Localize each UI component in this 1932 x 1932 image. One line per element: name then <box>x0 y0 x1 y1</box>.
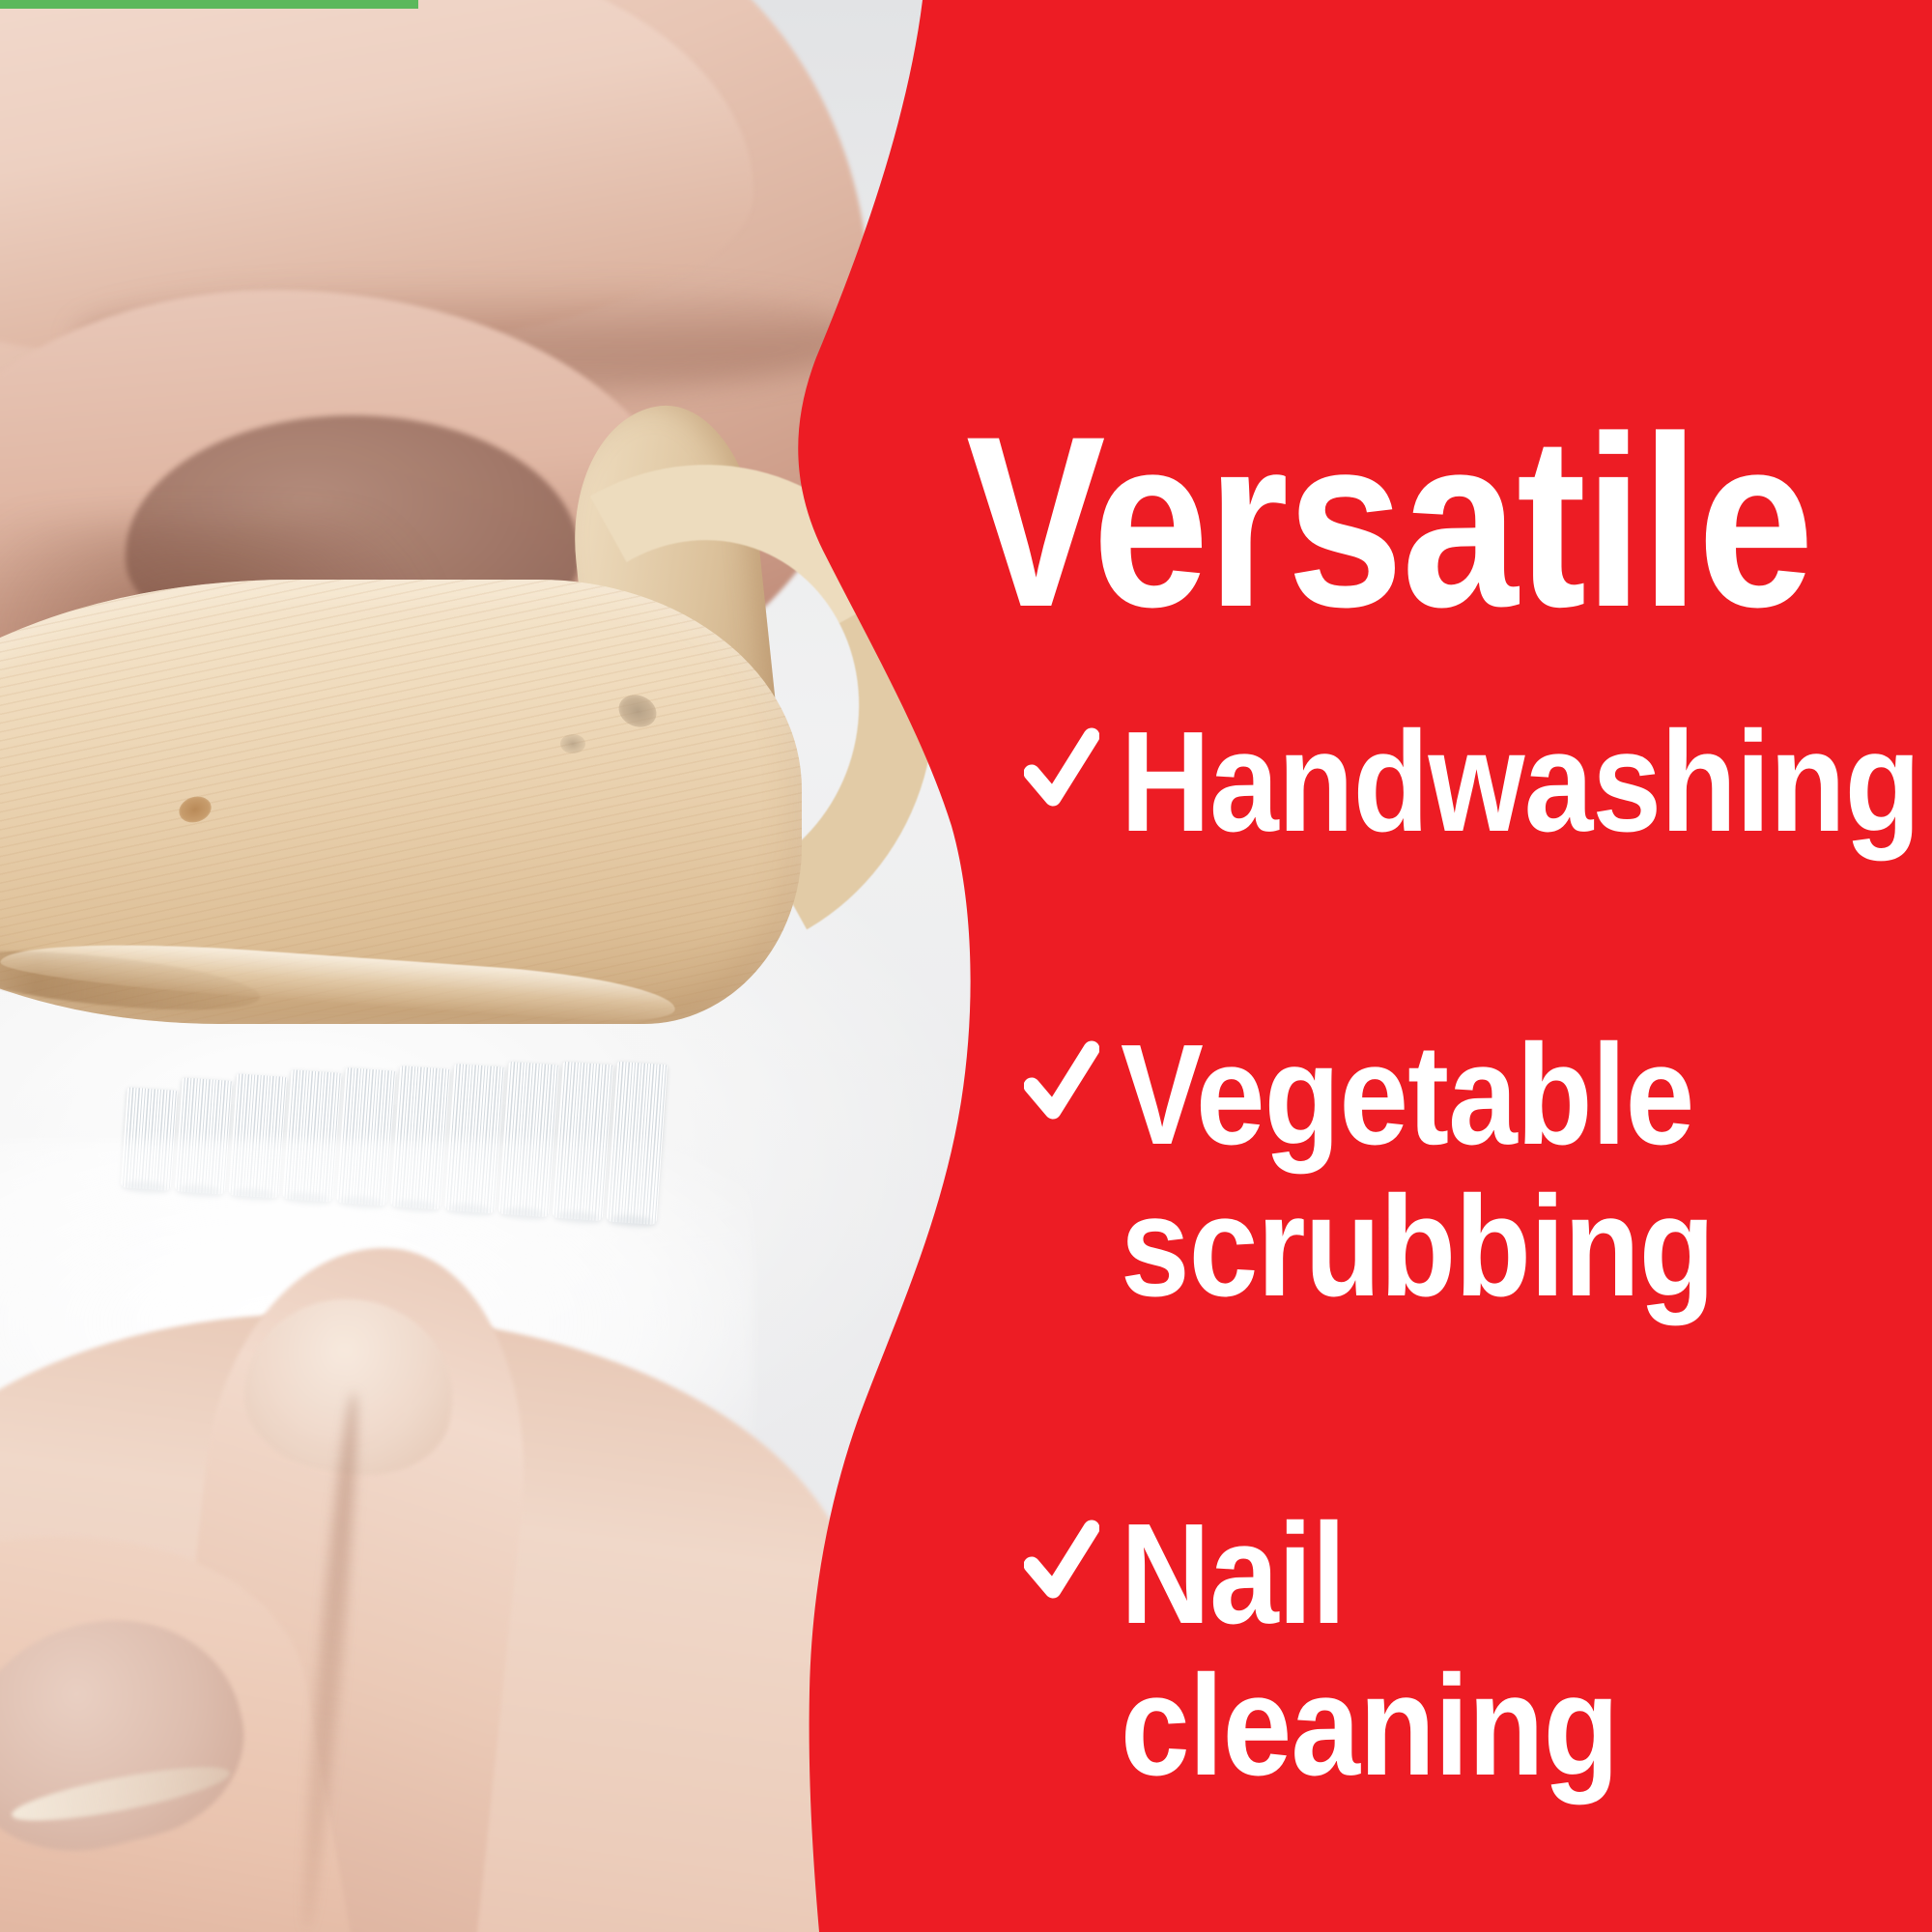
check-icon <box>1024 1515 1099 1607</box>
check-icon <box>1024 1036 1099 1128</box>
feature-item-vegetable-scrubbing: Vegetable scrubbing <box>1024 1020 1803 1323</box>
feature-item-handwashing: Handwashing <box>1024 707 1932 859</box>
feature-label: Nail cleaning <box>1121 1499 1827 1803</box>
panel-content: Versatile Handwashing Vegetable scrubbin… <box>0 0 1932 1932</box>
check-icon <box>1024 723 1099 815</box>
page-title: Versatile <box>966 401 1812 644</box>
top-accent-bar <box>0 0 418 9</box>
feature-label: Handwashing <box>1121 707 1919 859</box>
infographic-canvas: Versatile Handwashing Vegetable scrubbin… <box>0 0 1932 1932</box>
feature-item-nail-cleaning: Nail cleaning <box>1024 1499 1932 1803</box>
feature-label: Vegetable scrubbing <box>1121 1020 1715 1323</box>
